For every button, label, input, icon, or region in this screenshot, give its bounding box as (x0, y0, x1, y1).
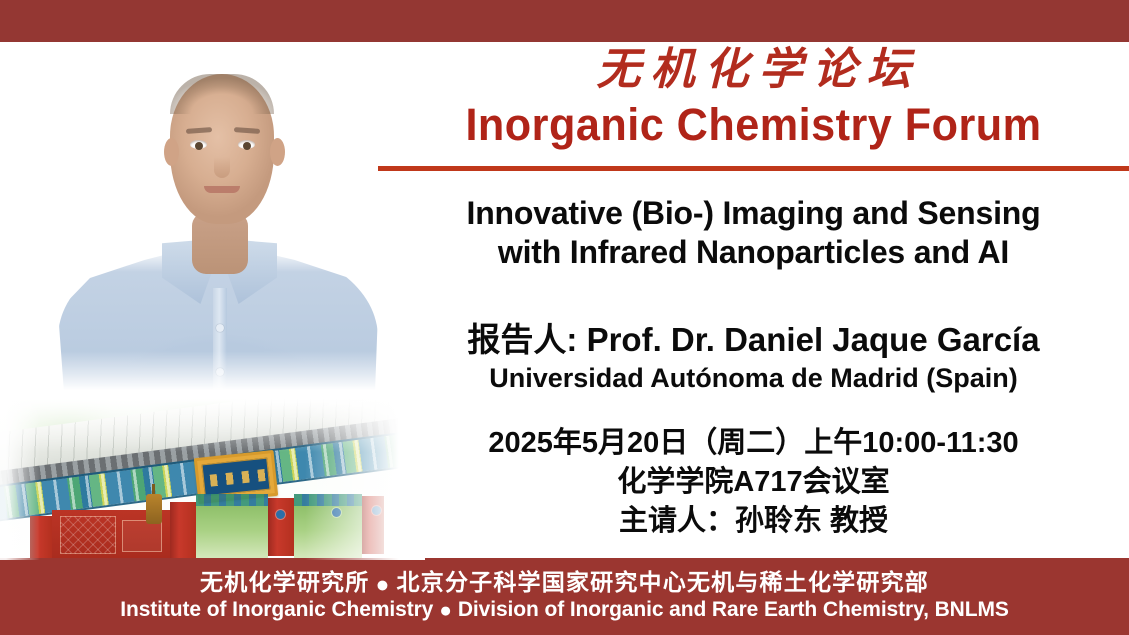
bullet-separator-icon: ● (439, 600, 452, 622)
portrait-mouth (204, 186, 240, 193)
talk-title-line-1: Innovative (Bio-) Imaging and Sensing (396, 194, 1111, 233)
speaker-name: 报告人: Prof. Dr. Daniel Jaque García (396, 320, 1111, 360)
footer-en-right: Division of Inorganic and Rare Earth Che… (458, 598, 1009, 621)
event-venue: 化学学院A717会议室 (396, 463, 1111, 502)
seminar-poster: 无机化学论坛 Inorganic Chemistry Forum Innovat… (0, 0, 1129, 635)
speaker-photo (58, 52, 378, 397)
portrait-pupil-left (195, 142, 203, 150)
forum-title-english: Inorganic Chemistry Forum (393, 100, 1114, 150)
portrait-shirt-button (216, 324, 224, 332)
event-host: 主请人：孙聆东 教授 (396, 502, 1111, 541)
portrait-ear-right (270, 138, 285, 166)
footer-chinese-line: 无机化学研究所●北京分子科学国家研究中心无机与稀土化学研究部 (200, 571, 929, 597)
gate-beam-boss (276, 510, 285, 519)
gate-right-fade (305, 398, 425, 560)
footer-english-line: Institute of Inorganic Chemistry●Divisio… (120, 599, 1009, 621)
speaker-block: 报告人: Prof. Dr. Daniel Jaque García Unive… (396, 320, 1111, 394)
gate-plaque-inscription (202, 458, 271, 497)
footer-en-left: Institute of Inorganic Chemistry (120, 598, 433, 621)
footer-cn-right: 北京分子科学国家研究中心无机与稀土化学研究部 (397, 570, 929, 595)
footer-content: 无机化学研究所●北京分子科学国家研究中心无机与稀土化学研究部 Institute… (0, 558, 1129, 635)
footer-cn-left: 无机化学研究所 (200, 570, 369, 595)
logistics-block: 2025年5月20日（周二）上午10:00-11:30 化学学院A717会议室 … (396, 424, 1111, 541)
poster-text-column: 无机化学论坛 Inorganic Chemistry Forum Innovat… (378, 42, 1129, 558)
portrait-bottom-fade (58, 351, 378, 397)
portrait-ear-left (164, 138, 179, 166)
gate-opening (196, 506, 268, 560)
gate-hanging-lantern (146, 494, 162, 524)
gate-column (268, 498, 294, 556)
forum-title-chinese: 无机化学论坛 (378, 46, 1129, 94)
footer-color-band: 无机化学研究所●北京分子科学国家研究中心无机与稀土化学研究部 Institute… (0, 558, 1129, 635)
event-datetime: 2025年5月20日（周二）上午10:00-11:30 (396, 424, 1111, 463)
speaker-affiliation: Universidad Autónoma de Madrid (Spain) (396, 362, 1111, 394)
talk-title-line-2: with Infrared Nanoparticles and AI (396, 233, 1111, 272)
header-divider-rule (378, 166, 1129, 171)
top-color-band (0, 0, 1129, 42)
gate-left-fade (0, 398, 40, 560)
talk-title: Innovative (Bio-) Imaging and Sensing wi… (396, 194, 1111, 272)
portrait-nose (214, 150, 230, 178)
bullet-separator-icon: ● (375, 573, 390, 597)
portrait-hairline (170, 74, 274, 114)
university-gate-watercolor (0, 398, 425, 560)
gate-column (170, 502, 196, 560)
portrait-pupil-right (243, 142, 251, 150)
